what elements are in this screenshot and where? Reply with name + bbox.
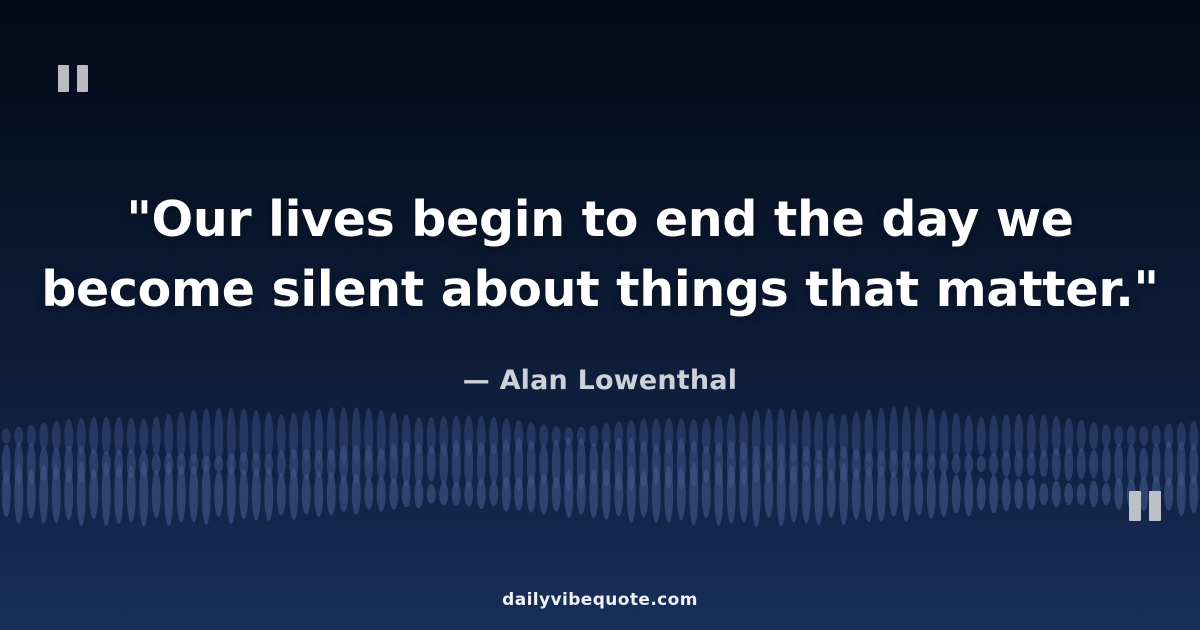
quote-content: "Our lives begin to end the day we becom… [0,0,1200,396]
quote-card: "Our lives begin to end the day we becom… [0,0,1200,630]
footer: dailyvibequote.com [0,590,1200,610]
quote-bar-right [1149,491,1161,521]
quote-bar-left [58,65,69,92]
quote-mark-icon-top [58,65,88,92]
soundwave-decoration [0,402,1200,542]
site-url-label: dailyvibequote.com [502,590,698,610]
soundwave-icon [0,402,1200,542]
quote-bar-right [77,65,88,92]
quote-mark-icon-bottom [1129,491,1161,521]
quote-author: — Alan Lowenthal [0,365,1200,396]
quote-bar-left [1129,491,1141,521]
quote-text: "Our lives begin to end the day we becom… [0,185,1200,325]
